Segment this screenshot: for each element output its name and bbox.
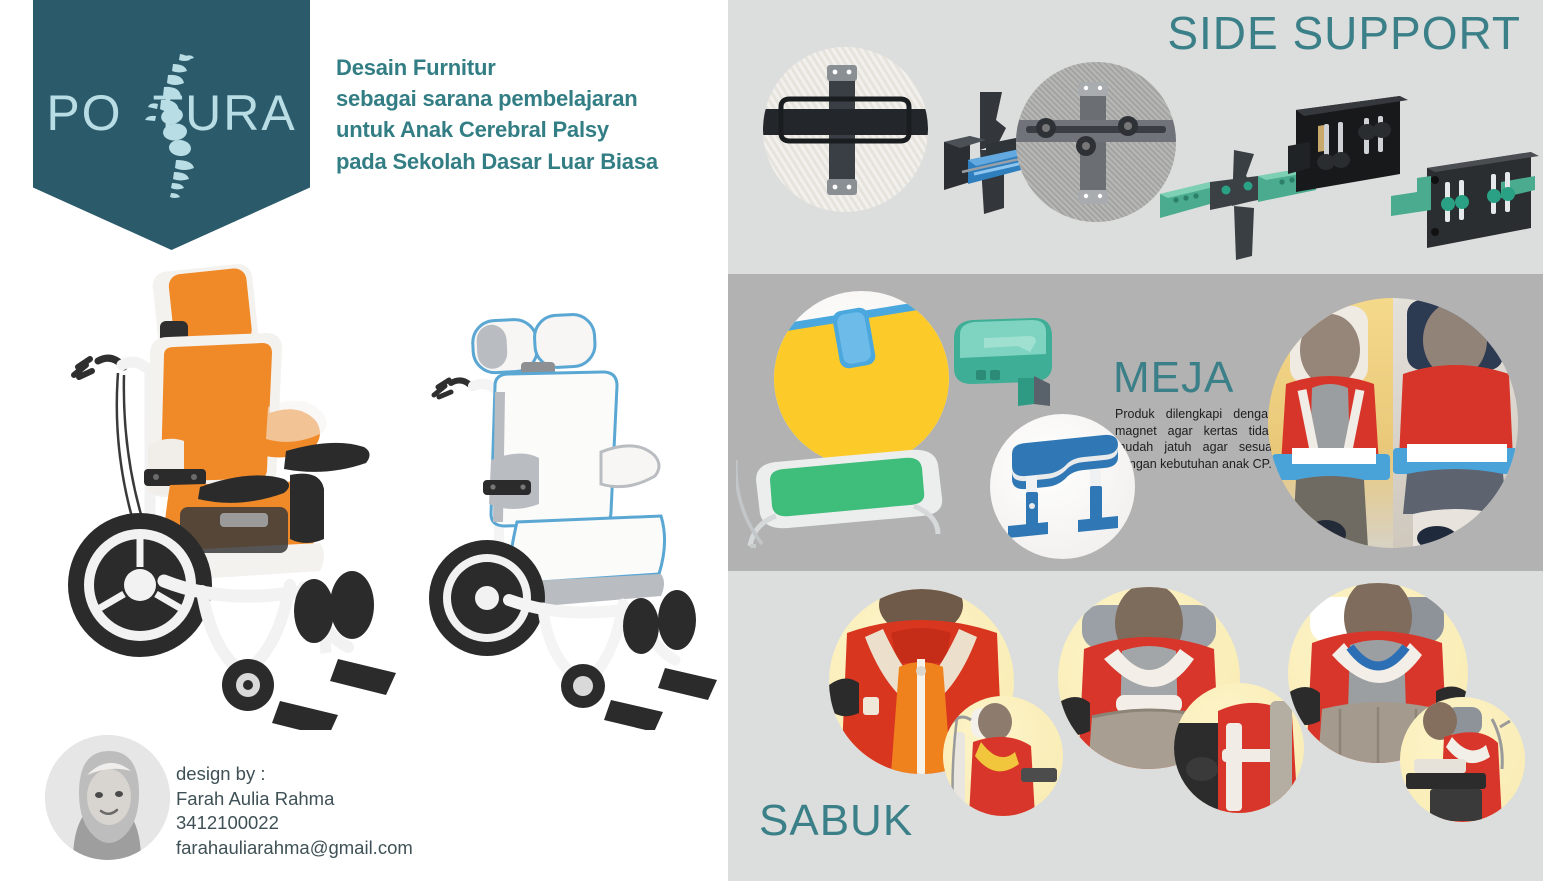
green-tray-table-render xyxy=(736,424,976,554)
wordmark-po: PO xyxy=(46,85,122,141)
designer-avatar xyxy=(45,735,170,860)
side-support-photo-white-fabric xyxy=(763,47,928,212)
tagline-line-4: pada Sekolah Dasar Luar Biasa xyxy=(336,146,716,177)
panel-sabuk: SABUK xyxy=(728,571,1543,881)
adjustable-table-circle xyxy=(990,414,1135,559)
credit-student-id: 3412100022 xyxy=(176,811,413,836)
side-support-title: SIDE SUPPORT xyxy=(1167,10,1521,56)
child-in-chair-side-photo xyxy=(943,696,1063,816)
table-edge-magnet-detail xyxy=(946,316,1061,416)
tagline-line-3: untuk Anak Cerebral Palsy xyxy=(336,114,716,145)
wheelchair-orange-photo xyxy=(52,255,402,730)
side-support-photo-grey-fabric xyxy=(1016,62,1176,222)
sabuk-title: SABUK xyxy=(759,799,913,843)
designer-credit: design by : Farah Aulia Rahma 3412100022… xyxy=(176,762,413,860)
tagline-line-1: Desain Furnitur xyxy=(336,52,716,83)
credit-label: design by : xyxy=(176,762,413,787)
meja-description: Produk dilengkapi dengan magnet agar ker… xyxy=(1115,406,1275,472)
poster-root: POTURA xyxy=(0,0,1543,881)
credit-name: Farah Aulia Rahma xyxy=(176,787,413,812)
left-column: POTURA xyxy=(0,0,728,881)
harness-buckle-detail-photo xyxy=(1174,683,1304,813)
postura-logo-badge: POTURA xyxy=(33,0,310,250)
meja-title: MEJA xyxy=(1113,356,1234,400)
panel-meja: MEJA Produk dilengkapi dengan magnet aga… xyxy=(728,274,1543,571)
credit-email: farahauliarahma@gmail.com xyxy=(176,836,413,861)
tagline-line-2: sebagai sarana pembelajaran xyxy=(336,83,716,114)
wheelchair-blue-photo xyxy=(425,300,725,730)
child-lateral-harness-photo xyxy=(1400,697,1525,822)
panel-side-support: SIDE SUPPORT xyxy=(728,0,1543,274)
child-using-table-photo-left xyxy=(1268,298,1518,548)
spine-icon xyxy=(128,52,220,202)
poster-tagline: Desain Furnitur sebagai sarana pembelaja… xyxy=(336,52,716,177)
side-support-panel-green-render xyxy=(1391,140,1541,260)
